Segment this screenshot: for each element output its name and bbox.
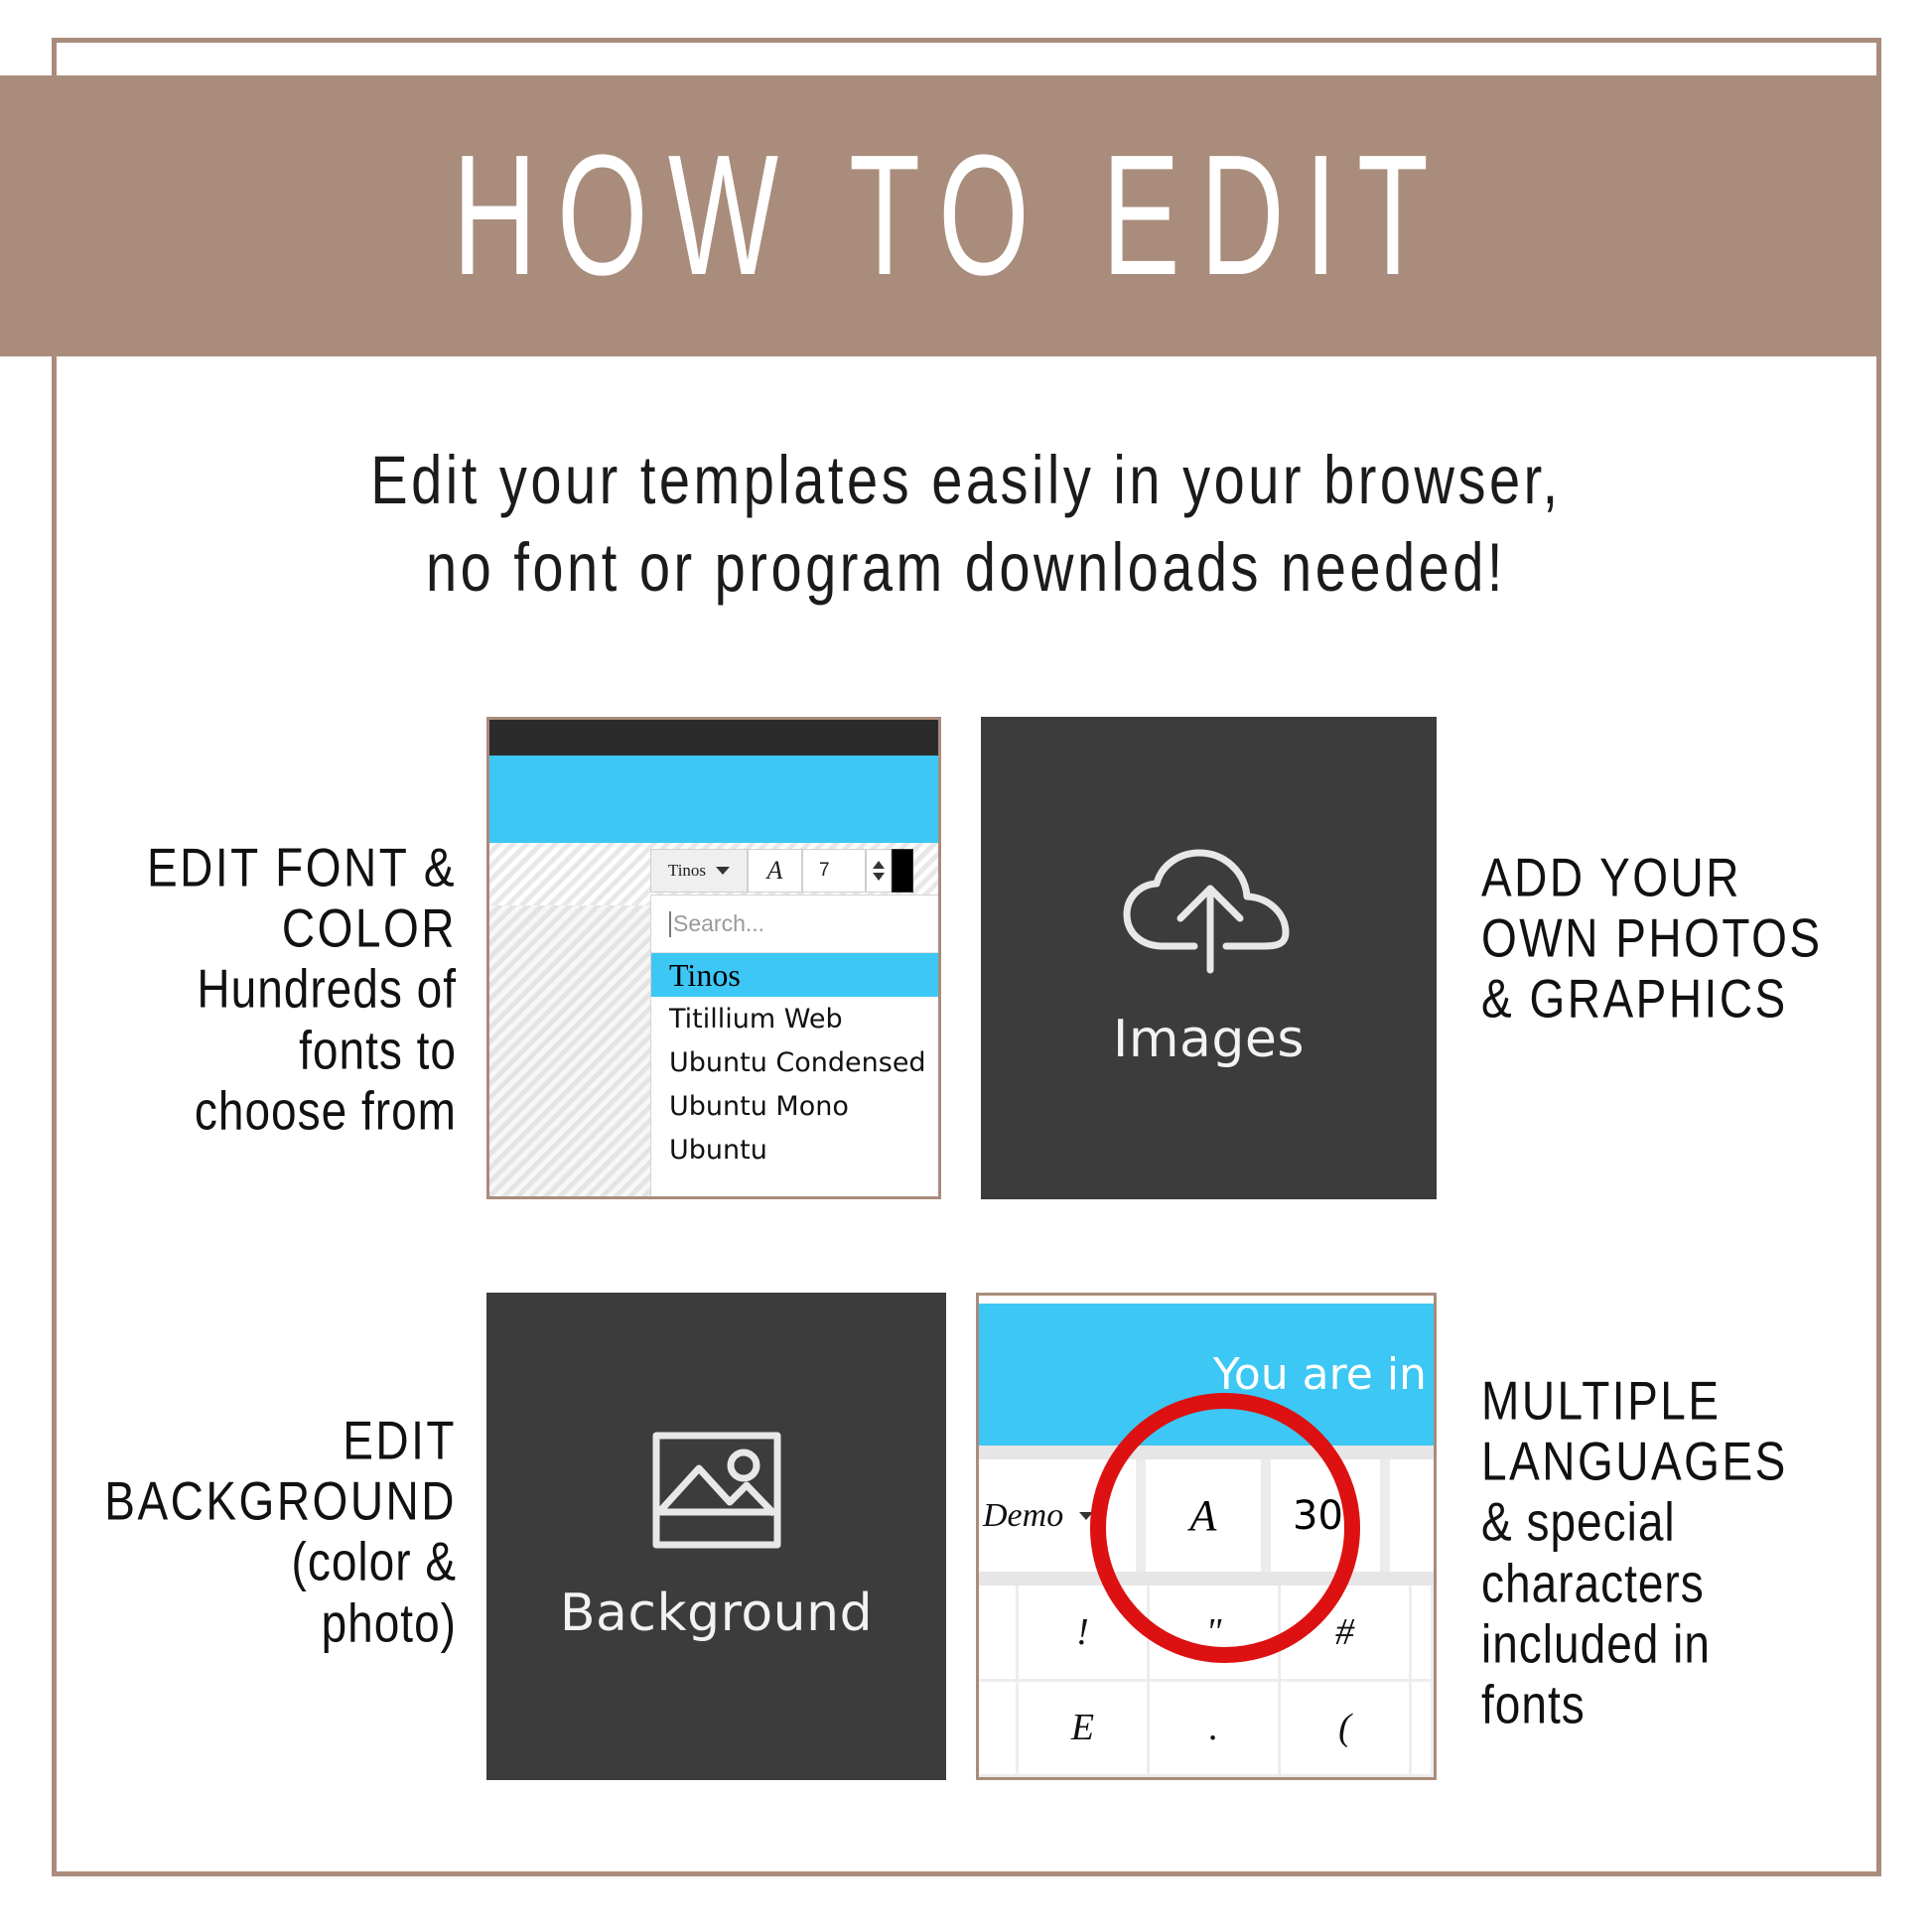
character-key[interactable]	[1412, 1586, 1434, 1682]
text-cursor-icon	[669, 911, 671, 937]
search-placeholder: Search...	[673, 910, 764, 937]
font-option-label: Ubuntu Condensed	[669, 1047, 926, 1078]
header-banner: HOW TO EDIT	[0, 75, 1880, 356]
screenshot-font-picker: Tinos A 7 Search... Tinos	[486, 717, 941, 1199]
character-key[interactable]: (	[1281, 1682, 1412, 1778]
search-input[interactable]: Search...	[651, 896, 941, 953]
character-toolbar: Demo A 30	[979, 1459, 1434, 1572]
editor-canvas-area	[489, 905, 650, 1196]
subtitle: Edit your templates easily in your brows…	[119, 437, 1813, 612]
poster-root: HOW TO EDIT Edit your templates easily i…	[0, 0, 1932, 1932]
background-label: Background	[560, 1584, 873, 1643]
editor-blue-banner: You are in e	[979, 1304, 1434, 1446]
script-a-glyph: A	[1190, 1490, 1217, 1541]
caption-font-body-3: choose from	[60, 1075, 457, 1147]
toolbar-separator	[979, 1572, 1434, 1586]
screenshot-special-characters: You are in e Demo A 30 ! " # E . (	[976, 1293, 1437, 1780]
font-name-label: Tinos	[668, 861, 706, 881]
background-tile[interactable]: Background	[486, 1293, 946, 1780]
character-key[interactable]	[979, 1586, 1019, 1682]
caption-edit-font-color: EDIT FONT & COLOR Hundreds of fonts to c…	[60, 832, 457, 1136]
toolbar-strip	[979, 1446, 1434, 1459]
font-option-ubuntu-mono[interactable]: Ubuntu Mono	[651, 1084, 941, 1128]
images-tile[interactable]: Images	[981, 717, 1437, 1199]
editor-banner-text: You are in e	[1213, 1349, 1437, 1400]
caption-languages-body-4: fonts	[1481, 1669, 1908, 1740]
caption-photos-heading-3: & GRAPHICS	[1481, 963, 1898, 1035]
font-size-input[interactable]: 7	[802, 849, 866, 893]
character-grid: ! " # E . (	[979, 1586, 1434, 1777]
chevron-down-icon	[716, 867, 730, 875]
font-option-label: Ubuntu	[669, 1135, 767, 1166]
font-toolbar: Tinos A 7	[650, 847, 941, 895]
caret-down-icon[interactable]	[873, 873, 885, 881]
font-option-label: Ubuntu Mono	[669, 1091, 849, 1122]
editor-titlebar	[489, 720, 938, 756]
font-name-dropdown[interactable]: Demo	[979, 1459, 1146, 1572]
font-option-clipped[interactable]	[651, 1172, 941, 1187]
font-size-value: 7	[819, 860, 830, 882]
caption-multiple-languages: MULTIPLE LANGUAGES & special characters …	[1481, 1365, 1908, 1729]
character-key[interactable]: !	[1019, 1586, 1150, 1682]
page-title: HOW TO EDIT	[432, 130, 1449, 302]
character-key[interactable]	[1412, 1682, 1434, 1778]
character-key[interactable]: #	[1281, 1586, 1412, 1682]
script-a-icon[interactable]: A	[748, 849, 802, 893]
script-a-glyph: A	[767, 856, 783, 886]
font-size-value: 30	[1293, 1493, 1343, 1539]
character-key[interactable]: .	[1150, 1682, 1281, 1778]
font-name-label: Demo	[983, 1497, 1063, 1535]
subtitle-line-2: no font or program downloads needed!	[119, 524, 1813, 612]
font-size-input[interactable]: 30	[1271, 1459, 1390, 1572]
character-key[interactable]	[979, 1682, 1019, 1778]
color-swatch[interactable]	[892, 849, 913, 893]
screenshot-images-tool: Images	[981, 717, 1437, 1199]
font-option-label: Tinos	[669, 957, 741, 994]
caret-up-icon[interactable]	[873, 861, 885, 869]
font-option-ubuntu[interactable]: Ubuntu	[651, 1128, 941, 1172]
character-key[interactable]: "	[1150, 1586, 1281, 1682]
caption-background-body-2: photo)	[40, 1587, 457, 1659]
font-dropdown-list: Search... Tinos Titillium Web Ubuntu Con…	[650, 895, 941, 1199]
cloud-upload-icon	[1115, 847, 1304, 976]
screenshot-background-tool: Background	[486, 1293, 946, 1780]
font-size-stepper[interactable]	[866, 849, 892, 893]
image-placeholder-icon	[651, 1431, 782, 1550]
images-label: Images	[1113, 1010, 1305, 1069]
font-option-tinos[interactable]: Tinos	[651, 953, 941, 997]
font-option-label: Titillium Web	[669, 1004, 843, 1035]
editor-blue-banner	[489, 756, 938, 843]
font-option-ubuntu-condensed[interactable]: Ubuntu Condensed	[651, 1040, 941, 1084]
font-name-dropdown[interactable]: Tinos	[650, 849, 748, 893]
font-option-titillium-web[interactable]: Titillium Web	[651, 997, 941, 1040]
subtitle-line-1: Edit your templates easily in your brows…	[370, 442, 1561, 518]
caption-add-photos: ADD YOUR OWN PHOTOS & GRAPHICS	[1481, 842, 1898, 1025]
caption-edit-background: EDIT BACKGROUND (color & photo)	[40, 1405, 457, 1648]
character-key[interactable]: E	[1019, 1682, 1150, 1778]
chevron-down-icon	[1079, 1512, 1093, 1520]
script-a-icon[interactable]: A	[1146, 1459, 1271, 1572]
